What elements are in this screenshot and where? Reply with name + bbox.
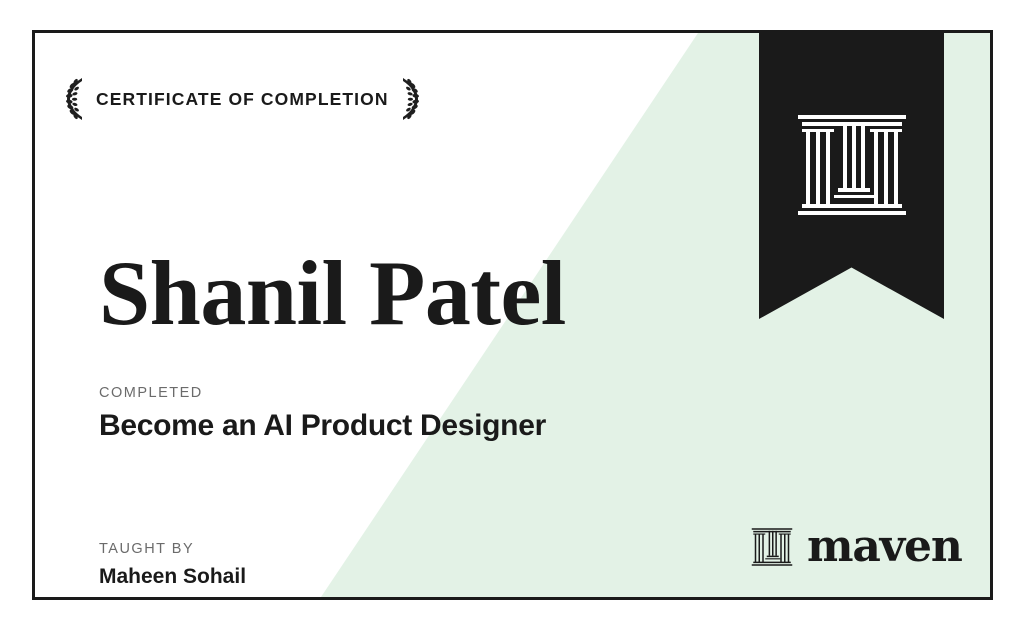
laurel-wreath-right-icon xyxy=(398,77,420,121)
certificate-kicker: CERTIFICATE OF COMPLETION xyxy=(96,89,389,110)
taught-by-label: TAUGHT BY xyxy=(99,541,246,557)
course-title: Become an AI Product Designer xyxy=(99,409,546,443)
maven-pillar-emblem-icon xyxy=(796,113,908,217)
recipient-name: Shanil Patel xyxy=(99,247,566,339)
certificate-header: CERTIFICATE OF COMPLETION xyxy=(65,77,420,121)
laurel-wreath-left-icon xyxy=(65,77,87,121)
instructor-name: Maheen Sohail xyxy=(99,565,246,589)
taught-by-block: TAUGHT BY Maheen Sohail xyxy=(99,541,246,589)
certificate-card: CERTIFICATE OF COMPLETION xyxy=(32,30,993,600)
completed-block: COMPLETED Become an AI Product Designer xyxy=(99,385,546,443)
completed-label: COMPLETED xyxy=(99,385,546,401)
maven-wordmark: maven xyxy=(807,525,962,569)
certificate-page: CERTIFICATE OF COMPLETION xyxy=(0,0,1024,630)
maven-pillar-logo-icon xyxy=(751,527,793,567)
maven-brand-lockup: maven xyxy=(751,525,962,569)
